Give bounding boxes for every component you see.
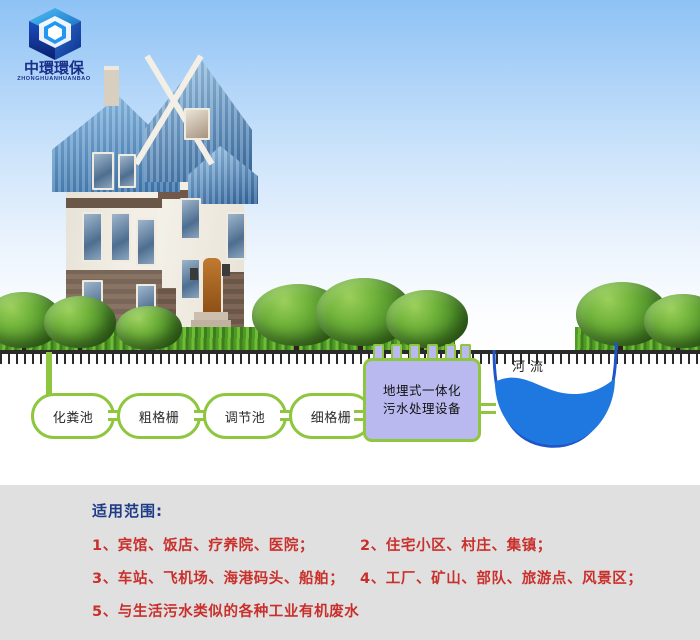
inlet-pipe: [46, 352, 52, 396]
scope-item: 2、住宅小区、村庄、集镇；: [360, 534, 552, 555]
scope-item: 4、工厂、矿山、部队、旅游点、风景区；: [360, 567, 643, 588]
flow-node-septic-tank[interactable]: 化粪池: [31, 393, 115, 439]
scope-panel: 适用范围: 1、宾馆、饭店、疗养院、医院； 2、住宅小区、村庄、集镇； 3、车站…: [0, 485, 700, 640]
flow-node-label: 调节池: [225, 407, 266, 426]
flow-node-coarse-grille[interactable]: 粗格栅: [117, 393, 201, 439]
treatment-plant-box[interactable]: 地埋式一体化 污水处理设备: [363, 358, 481, 442]
plant-label-line1: 地埋式一体化: [383, 382, 461, 400]
plant-label-line2: 污水处理设备: [383, 400, 461, 418]
flow-node-label: 细格栅: [311, 407, 352, 426]
flow-node-regulating-tank[interactable]: 调节池: [203, 393, 287, 439]
river-label: 河流: [512, 356, 548, 375]
scope-item: 5、与生活污水类似的各种工业有机废水: [92, 604, 359, 620]
flow-node-label: 化粪池: [53, 407, 94, 426]
scope-item: 3、车站、飞机场、海港码头、船舶；: [92, 571, 344, 587]
flow-node-label: 粗格栅: [139, 407, 180, 426]
villa-house-illustration: [48, 22, 258, 342]
scope-row: 5、与生活污水类似的各种工业有机废水: [92, 600, 359, 621]
scope-row: 1、宾馆、饭店、疗养院、医院； 2、住宅小区、村庄、集镇；: [92, 534, 314, 555]
scope-row: 3、车站、飞机场、海港码头、船舶； 4、工厂、矿山、部队、旅游点、风景区；: [92, 567, 344, 588]
scope-item: 1、宾馆、饭店、疗养院、医院；: [92, 538, 314, 554]
poster-canvas: 中環環保 ZHONGHUANHUANBAO: [0, 0, 700, 640]
scope-title: 适用范围:: [92, 500, 163, 521]
